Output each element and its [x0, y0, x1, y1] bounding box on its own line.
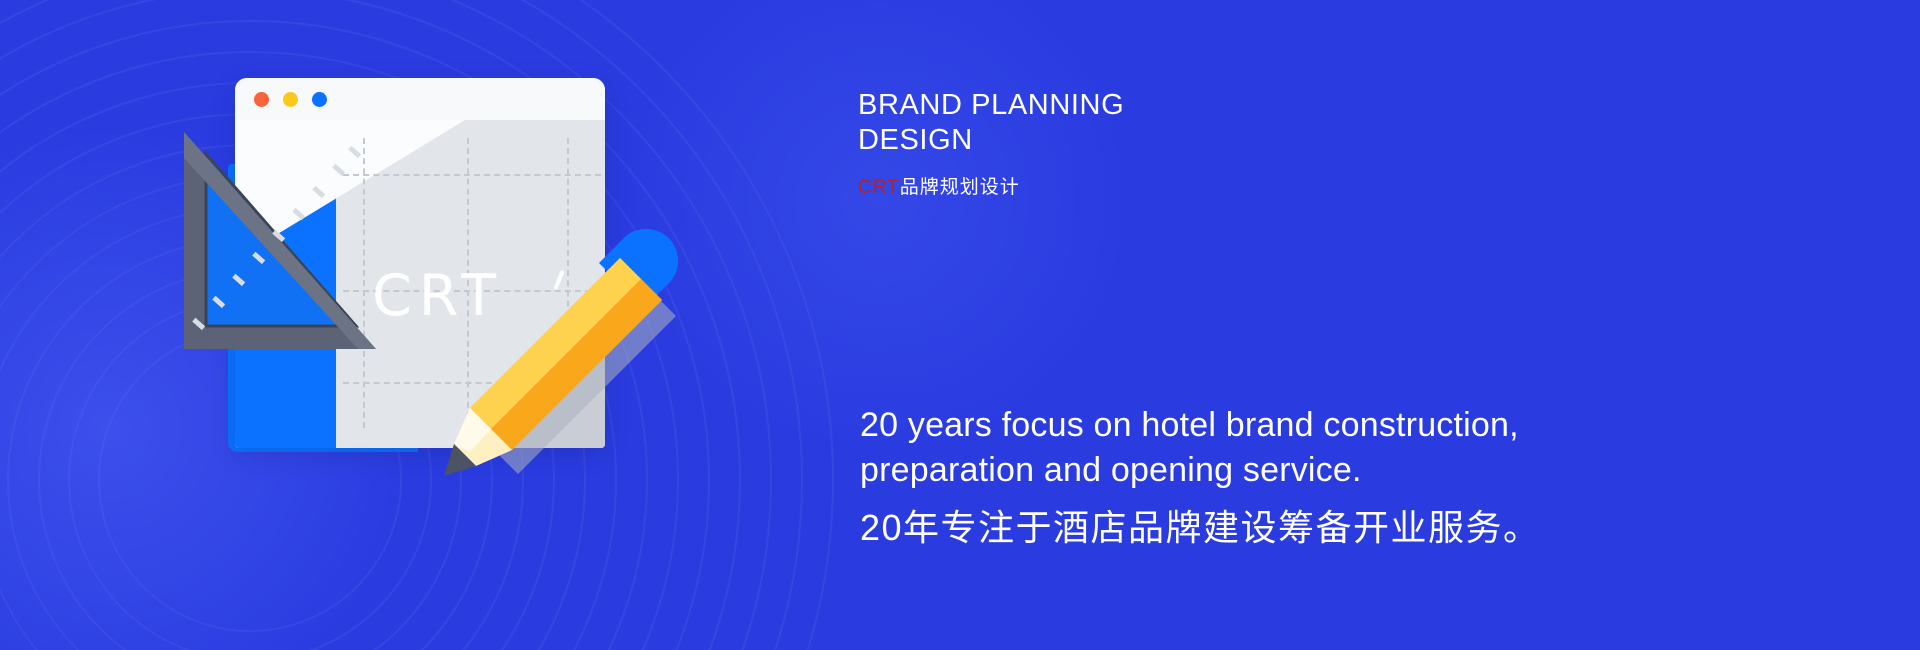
brand-banner: CRT — [0, 0, 1920, 650]
headline-line-1: BRAND PLANNING — [858, 88, 1478, 123]
headline-line-2: DESIGN — [858, 123, 1478, 158]
window-titlebar — [235, 78, 605, 121]
hero-illustration: CRT — [180, 78, 680, 478]
tagline-chinese: 20年专注于酒店品牌建设筹备开业服务。 — [860, 505, 1720, 551]
headline: BRAND PLANNING DESIGN — [858, 88, 1478, 158]
tagline-english-line-1: 20 years focus on hotel brand constructi… — [860, 403, 1720, 448]
tagline: 20 years focus on hotel brand constructi… — [860, 403, 1720, 551]
subheadline-brand: CRT — [858, 177, 900, 198]
close-dot-icon — [254, 92, 269, 107]
subheadline-text: 品牌规划设计 — [900, 177, 1020, 198]
tagline-english-line-2: preparation and opening service. — [860, 448, 1720, 493]
triangle-ruler-icon — [180, 128, 390, 353]
background-glow-right — [620, 0, 1140, 460]
pencil-icon — [430, 228, 690, 483]
maximize-dot-icon — [312, 92, 327, 107]
subheadline: CRT品牌规划设计 — [858, 172, 1020, 199]
minimize-dot-icon — [283, 92, 298, 107]
